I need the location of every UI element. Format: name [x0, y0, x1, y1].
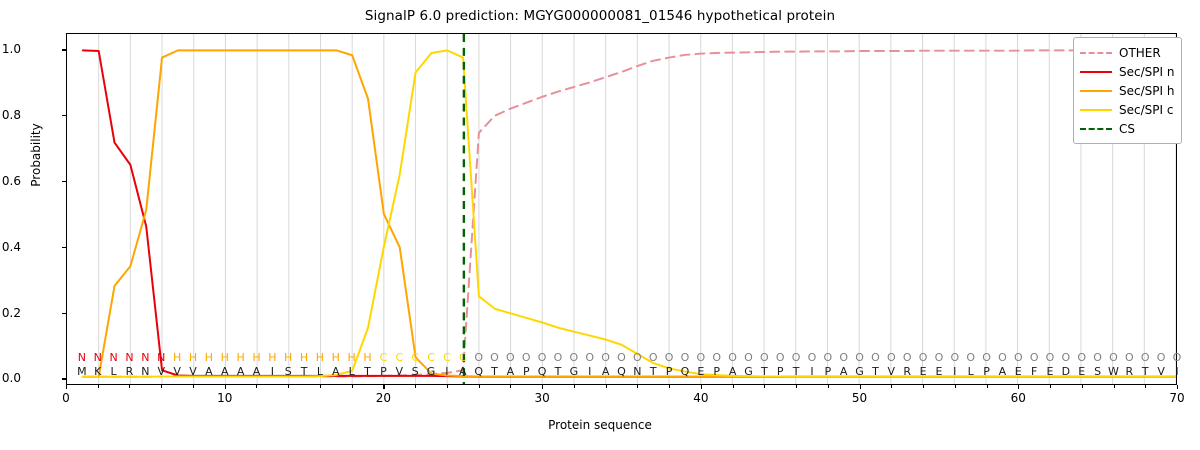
x-tick-minor: [129, 385, 130, 388]
x-tick-minor: [320, 385, 321, 388]
x-tick-label: 30: [522, 391, 562, 405]
legend-label: OTHER: [1119, 46, 1161, 60]
residue-state-64: O: [1074, 351, 1090, 365]
residue-aa-45: P: [772, 365, 788, 379]
residue-state-50: O: [852, 351, 868, 365]
residue-state-2: N: [90, 351, 106, 365]
x-tick-mark: [66, 385, 67, 389]
residue-state-30: O: [534, 351, 550, 365]
residue-aa-13: I: [264, 365, 280, 379]
x-tick-minor: [447, 385, 448, 388]
x-tick-minor: [796, 385, 797, 388]
residue-aa-56: I: [947, 365, 963, 379]
residue-state-31: O: [550, 351, 566, 365]
x-tick-minor: [256, 385, 257, 388]
x-tick-minor: [637, 385, 638, 388]
residue-state-36: O: [629, 351, 645, 365]
residue-state-52: O: [883, 351, 899, 365]
residue-aa-2: K: [90, 365, 106, 379]
residue-aa-25: A: [455, 365, 471, 379]
x-tick-minor: [606, 385, 607, 388]
residue-aa-42: A: [725, 365, 741, 379]
residue-state-42: O: [725, 351, 741, 365]
signalp-prediction-figure: SignalP 6.0 prediction: MGYG000000081_01…: [0, 0, 1200, 450]
residue-aa-55: E: [931, 365, 947, 379]
x-tick-label: 20: [363, 391, 403, 405]
residue-aa-16: L: [312, 365, 328, 379]
residue-aa-43: G: [740, 365, 756, 379]
x-tick-minor: [288, 385, 289, 388]
residue-aa-70: I: [1169, 365, 1185, 379]
residue-aa-53: R: [899, 365, 915, 379]
residue-aa-30: Q: [534, 365, 550, 379]
residue-aa-26: Q: [471, 365, 487, 379]
residue-state-3: N: [106, 351, 122, 365]
legend-swatch-icon: [1080, 47, 1112, 58]
x-tick-minor: [955, 385, 956, 388]
x-tick-minor: [193, 385, 194, 388]
residue-aa-14: S: [280, 365, 296, 379]
residue-state-20: C: [375, 351, 391, 365]
residue-aa-6: V: [153, 365, 169, 379]
residue-state-6: N: [153, 351, 169, 365]
residue-state-11: H: [233, 351, 249, 365]
residue-aa-49: A: [836, 365, 852, 379]
legend-item-sec-spi-h[interactable]: Sec/SPI h: [1080, 81, 1174, 100]
residue-sequence-row: MKLRNVVVAAAAISTLALTPVSGIAQTAPQTGIAQNTPQE…: [0, 365, 1200, 379]
residue-state-26: O: [471, 351, 487, 365]
x-tick-mark: [701, 385, 702, 389]
y-axis-label: Probability: [29, 95, 43, 215]
residue-aa-4: R: [121, 365, 137, 379]
x-tick-mark: [383, 385, 384, 389]
residue-state-55: O: [931, 351, 947, 365]
x-tick-label: 10: [205, 391, 245, 405]
residue-state-37: O: [645, 351, 661, 365]
residue-state-14: H: [280, 351, 296, 365]
residue-state-68: O: [1137, 351, 1153, 365]
residue-aa-32: G: [566, 365, 582, 379]
x-tick-minor: [1145, 385, 1146, 388]
residue-state-66: O: [1106, 351, 1122, 365]
residue-state-69: O: [1153, 351, 1169, 365]
residue-aa-44: T: [756, 365, 772, 379]
residue-aa-63: D: [1058, 365, 1074, 379]
residue-aa-68: T: [1137, 365, 1153, 379]
page-title: SignalP 6.0 prediction: MGYG000000081_01…: [0, 8, 1200, 24]
residue-aa-23: G: [423, 365, 439, 379]
x-tick-minor: [987, 385, 988, 388]
residue-aa-66: W: [1106, 365, 1122, 379]
residue-state-1: N: [74, 351, 90, 365]
residue-aa-62: E: [1042, 365, 1058, 379]
residue-state-17: H: [328, 351, 344, 365]
x-tick-minor: [98, 385, 99, 388]
residue-state-51: O: [867, 351, 883, 365]
residue-state-43: O: [740, 351, 756, 365]
residue-state-59: O: [994, 351, 1010, 365]
residue-state-5: N: [137, 351, 153, 365]
legend-item-other[interactable]: OTHER: [1080, 43, 1174, 62]
residue-state-56: O: [947, 351, 963, 365]
x-tick-mark: [1018, 385, 1019, 389]
x-tick-label: 50: [840, 391, 880, 405]
residue-aa-54: E: [915, 365, 931, 379]
residue-state-38: O: [661, 351, 677, 365]
residue-aa-8: V: [185, 365, 201, 379]
residue-state-48: O: [820, 351, 836, 365]
x-tick-mark: [1177, 385, 1178, 389]
residue-state-60: O: [1010, 351, 1026, 365]
residue-aa-67: R: [1121, 365, 1137, 379]
residue-aa-9: A: [201, 365, 217, 379]
x-tick-minor: [161, 385, 162, 388]
residue-state-24: C: [439, 351, 455, 365]
residue-aa-41: P: [709, 365, 725, 379]
residue-state-53: O: [899, 351, 915, 365]
x-tick-mark: [225, 385, 226, 389]
residue-aa-17: A: [328, 365, 344, 379]
residue-aa-57: L: [963, 365, 979, 379]
residue-aa-37: T: [645, 365, 661, 379]
residue-state-25: C: [455, 351, 471, 365]
residue-state-70: O: [1169, 351, 1185, 365]
x-tick-minor: [1082, 385, 1083, 388]
x-tick-minor: [415, 385, 416, 388]
y-tick-label: 1.0: [0, 43, 21, 55]
residue-aa-28: A: [502, 365, 518, 379]
residue-state-41: O: [709, 351, 725, 365]
residue-aa-3: L: [106, 365, 122, 379]
residue-aa-5: N: [137, 365, 153, 379]
legend-label: Sec/SPI h: [1119, 84, 1174, 98]
x-tick-label: 40: [681, 391, 721, 405]
residue-aa-65: S: [1090, 365, 1106, 379]
residue-aa-12: A: [248, 365, 264, 379]
residue-state-33: O: [582, 351, 598, 365]
residue-state-7: H: [169, 351, 185, 365]
residue-aa-18: L: [344, 365, 360, 379]
residue-aa-24: I: [439, 365, 455, 379]
residue-state-49: O: [836, 351, 852, 365]
legend-item-sec-spi-n[interactable]: Sec/SPI n: [1080, 62, 1174, 81]
residue-state-18: H: [344, 351, 360, 365]
residue-aa-59: A: [994, 365, 1010, 379]
residue-aa-48: P: [820, 365, 836, 379]
residue-state-67: O: [1121, 351, 1137, 365]
residue-aa-35: Q: [614, 365, 630, 379]
residue-state-35: O: [614, 351, 630, 365]
residue-state-13: H: [264, 351, 280, 365]
x-tick-mark: [860, 385, 861, 389]
residue-aa-29: P: [518, 365, 534, 379]
plot-area: [66, 33, 1177, 385]
x-tick-minor: [669, 385, 670, 388]
x-tick-label: 0: [46, 391, 86, 405]
x-tick-minor: [828, 385, 829, 388]
residue-aa-15: T: [296, 365, 312, 379]
residue-aa-39: Q: [677, 365, 693, 379]
y-tick-label: 0.8: [0, 109, 21, 121]
residue-aa-10: A: [217, 365, 233, 379]
x-tick-label: 70: [1157, 391, 1197, 405]
residue-aa-7: V: [169, 365, 185, 379]
legend-label: CS: [1119, 122, 1135, 136]
residue-state-40: O: [693, 351, 709, 365]
x-tick-mark: [542, 385, 543, 389]
legend-label: Sec/SPI n: [1119, 65, 1174, 79]
residue-aa-36: N: [629, 365, 645, 379]
legend-swatch-icon: [1080, 123, 1112, 134]
residue-state-34: O: [598, 351, 614, 365]
residue-aa-58: P: [979, 365, 995, 379]
legend-swatch-icon: [1080, 66, 1112, 77]
x-tick-minor: [764, 385, 765, 388]
residue-state-29: O: [518, 351, 534, 365]
residue-state-39: O: [677, 351, 693, 365]
residue-state-4: N: [121, 351, 137, 365]
x-tick-minor: [574, 385, 575, 388]
residue-aa-1: M: [74, 365, 90, 379]
y-tick-label: 0.2: [0, 307, 21, 319]
residue-aa-11: A: [233, 365, 249, 379]
residue-state-28: O: [502, 351, 518, 365]
residue-aa-27: T: [487, 365, 503, 379]
residue-aa-64: E: [1074, 365, 1090, 379]
residue-state-12: H: [248, 351, 264, 365]
residue-state-27: O: [487, 351, 503, 365]
legend-item-cs[interactable]: CS: [1080, 119, 1174, 138]
x-tick-minor: [1114, 385, 1115, 388]
residue-state-58: O: [979, 351, 995, 365]
residue-aa-20: P: [375, 365, 391, 379]
residue-state-15: H: [296, 351, 312, 365]
residue-state-9: H: [201, 351, 217, 365]
x-tick-minor: [510, 385, 511, 388]
residue-state-63: O: [1058, 351, 1074, 365]
residue-aa-40: E: [693, 365, 709, 379]
x-tick-minor: [479, 385, 480, 388]
residue-aa-50: G: [852, 365, 868, 379]
x-axis-label: Protein sequence: [0, 418, 1200, 432]
residue-state-54: O: [915, 351, 931, 365]
y-tick-label: 0.4: [0, 241, 21, 253]
cleavage-site-marker: [67, 34, 1176, 384]
x-tick-minor: [733, 385, 734, 388]
x-tick-minor: [923, 385, 924, 388]
residue-state-62: O: [1042, 351, 1058, 365]
residue-state-61: O: [1026, 351, 1042, 365]
x-tick-label: 60: [998, 391, 1038, 405]
residue-state-65: O: [1090, 351, 1106, 365]
legend-label: Sec/SPI c: [1119, 103, 1173, 117]
residue-aa-51: T: [867, 365, 883, 379]
legend[interactable]: OTHERSec/SPI nSec/SPI hSec/SPI cCS: [1073, 37, 1182, 144]
residue-state-10: H: [217, 351, 233, 365]
x-tick-minor: [1050, 385, 1051, 388]
residue-state-32: O: [566, 351, 582, 365]
legend-swatch-icon: [1080, 85, 1112, 96]
residue-state-21: C: [391, 351, 407, 365]
residue-state-47: O: [804, 351, 820, 365]
residue-state-23: C: [423, 351, 439, 365]
residue-state-22: C: [407, 351, 423, 365]
residue-state-16: H: [312, 351, 328, 365]
residue-aa-60: E: [1010, 365, 1026, 379]
residue-aa-19: T: [360, 365, 376, 379]
legend-swatch-icon: [1080, 104, 1112, 115]
residue-aa-69: V: [1153, 365, 1169, 379]
residue-aa-61: F: [1026, 365, 1042, 379]
residue-state-45: O: [772, 351, 788, 365]
residue-state-row: NNNNNNHHHHHHHHHHHHHCCCCCCOOOOOOOOOOOOOOO…: [0, 351, 1200, 365]
residue-state-46: O: [788, 351, 804, 365]
residue-state-57: O: [963, 351, 979, 365]
residue-aa-22: S: [407, 365, 423, 379]
residue-aa-38: P: [661, 365, 677, 379]
residue-aa-21: V: [391, 365, 407, 379]
legend-item-sec-spi-c[interactable]: Sec/SPI c: [1080, 100, 1174, 119]
x-tick-minor: [352, 385, 353, 388]
residue-aa-34: A: [598, 365, 614, 379]
residue-aa-31: T: [550, 365, 566, 379]
residue-aa-52: V: [883, 365, 899, 379]
residue-aa-47: I: [804, 365, 820, 379]
x-tick-minor: [891, 385, 892, 388]
residue-state-44: O: [756, 351, 772, 365]
y-tick-label: 0.6: [0, 175, 21, 187]
residue-aa-46: T: [788, 365, 804, 379]
residue-state-8: H: [185, 351, 201, 365]
residue-aa-33: I: [582, 365, 598, 379]
residue-state-19: H: [360, 351, 376, 365]
